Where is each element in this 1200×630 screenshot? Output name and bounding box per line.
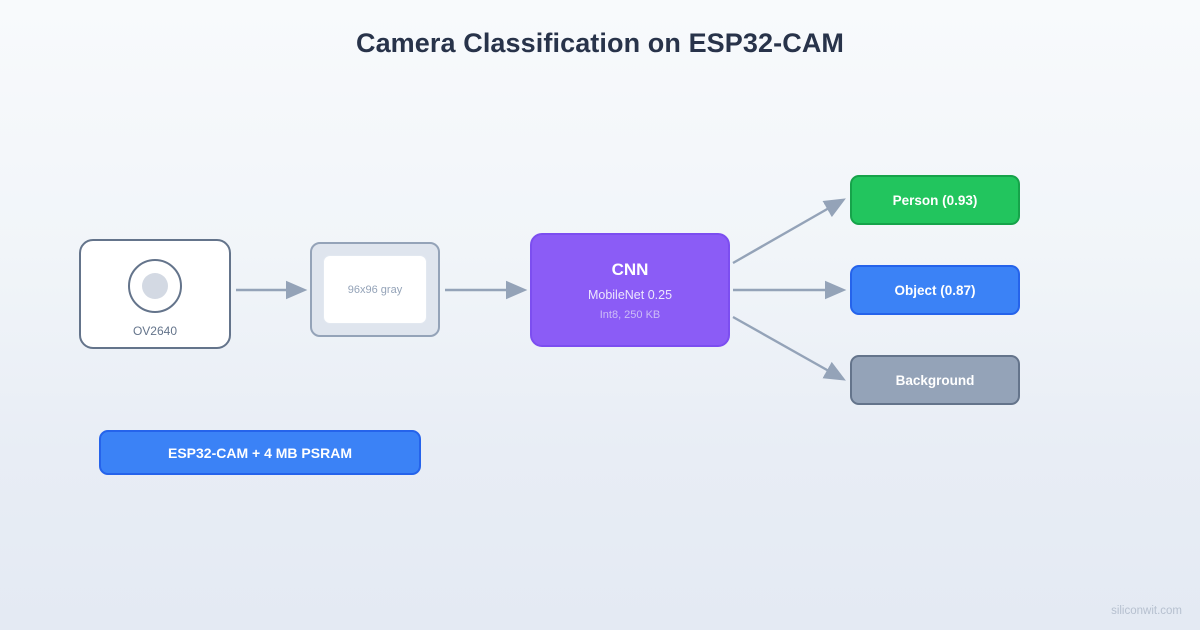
camera-aperture-icon [142,273,168,299]
frame-node-label: 96x96 gray [348,284,402,296]
camera-lens-icon [128,259,182,313]
diagram-canvas: Camera Classification on ESP32-CAM OV264… [0,0,1200,630]
edge-cnn-to-person [733,200,843,263]
cnn-node-meta: Int8, 250 KB [600,309,661,321]
cnn-node-subtitle: MobileNet 0.25 [588,288,672,302]
cnn-node-title: CNN [612,260,649,280]
frame-preview: 96x96 gray [323,255,427,324]
platform-badge[interactable]: ESP32-CAM + 4 MB PSRAM [99,430,421,475]
edge-cnn-to-background [733,317,843,379]
output-node-person[interactable]: Person (0.93) [850,175,1020,225]
watermark: siliconwit.com [1111,605,1182,617]
output-node-background[interactable]: Background [850,355,1020,405]
frame-node[interactable]: 96x96 gray [310,242,440,337]
camera-node[interactable]: OV2640 [79,239,231,349]
cnn-node[interactable]: CNN MobileNet 0.25 Int8, 250 KB [530,233,730,347]
output-node-object[interactable]: Object (0.87) [850,265,1020,315]
camera-node-label: OV2640 [81,324,229,338]
